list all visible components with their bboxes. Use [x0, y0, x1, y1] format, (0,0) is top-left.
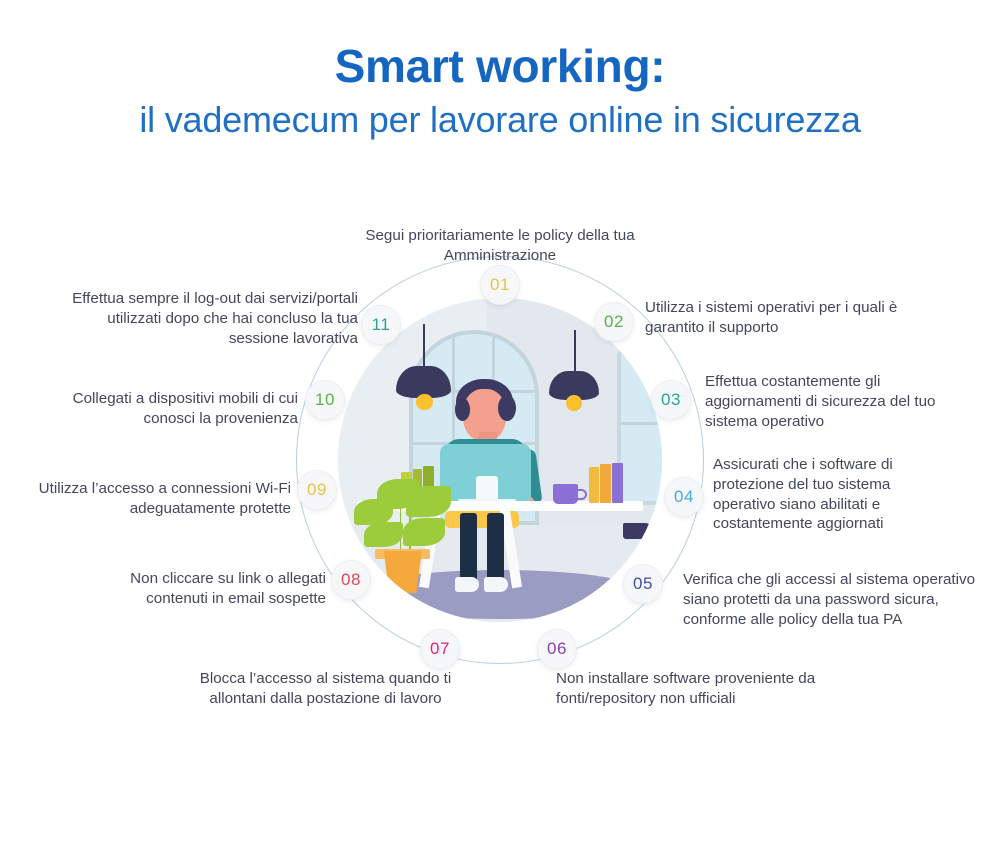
step-label-06: Non installare software proveniente da f…	[556, 669, 856, 709]
step-number-07: 07	[430, 639, 450, 659]
page-title: Smart working:	[0, 42, 1000, 91]
step-badge-07[interactable]: 07	[421, 630, 459, 668]
lamp-cord-left	[423, 324, 425, 369]
step-label-09: Utilizza l’accesso a connessioni Wi-Fi a…	[28, 479, 291, 519]
step-badge-08[interactable]: 08	[332, 561, 370, 599]
infographic-page: Smart working: il vademecum per lavorare…	[0, 0, 1000, 844]
step-label-08: Non cliccare su link o allegati contenut…	[68, 569, 326, 609]
step-number-04: 04	[674, 487, 694, 507]
step-label-05: Verifica che gli accessi al sistema oper…	[683, 570, 983, 629]
step-label-04: Assicurati che i software di protezione …	[713, 455, 938, 534]
step-number-08: 08	[341, 570, 361, 590]
title-block: Smart working: il vademecum per lavorare…	[0, 42, 1000, 142]
person-leg-left	[460, 513, 477, 581]
lamp-bulb-left-icon	[416, 394, 433, 411]
plant-leaf-3	[406, 486, 451, 517]
step-badge-06[interactable]: 06	[538, 630, 576, 668]
step-badge-11[interactable]: 11	[362, 306, 400, 344]
plant-leaf-5	[403, 518, 445, 546]
coffee-mug-icon	[553, 484, 577, 504]
step-label-02: Utilizza i sistemi operativi per i quali…	[645, 298, 945, 338]
step-label-03: Effettua costantemente gli aggiornamenti…	[705, 372, 945, 431]
book-5	[600, 464, 610, 503]
side-window-icon	[617, 350, 662, 506]
waste-bin-icon	[623, 523, 652, 539]
book-6	[612, 463, 623, 504]
step-badge-05[interactable]: 05	[624, 565, 662, 603]
step-badge-09[interactable]: 09	[298, 471, 336, 509]
person-shoe-left	[455, 577, 479, 592]
lamp-cord-right	[574, 330, 576, 372]
step-badge-03[interactable]: 03	[652, 381, 690, 419]
step-badge-10[interactable]: 10	[306, 381, 344, 419]
person-leg-right	[487, 513, 504, 581]
step-number-02: 02	[604, 312, 624, 332]
step-badge-02[interactable]: 02	[595, 303, 633, 341]
person-shoe-right	[484, 577, 508, 592]
step-label-11: Effettua sempre il log-out dai servizi/p…	[50, 289, 358, 348]
step-badge-04[interactable]: 04	[665, 478, 703, 516]
remote-worker-illustration	[338, 298, 662, 622]
page-subtitle: il vademecum per lavorare online in sicu…	[0, 97, 1000, 142]
step-number-10: 10	[315, 390, 335, 410]
step-label-10: Collegati a dispositivi mobili di cui co…	[18, 389, 298, 429]
step-number-06: 06	[547, 639, 567, 659]
step-number-01: 01	[490, 275, 510, 295]
step-number-03: 03	[661, 390, 681, 410]
step-label-07: Blocca l’accesso al sistema quando ti al…	[178, 669, 473, 709]
step-badge-01[interactable]: 01	[481, 266, 519, 304]
step-label-01: Segui prioritariamente le policy della t…	[330, 226, 670, 266]
step-number-09: 09	[307, 480, 327, 500]
illustration-circle	[338, 298, 662, 622]
step-number-05: 05	[633, 574, 653, 594]
person-hair-side-left	[455, 398, 470, 421]
lamp-bulb-right-icon	[566, 395, 582, 411]
step-number-11: 11	[372, 315, 391, 335]
book-4	[589, 467, 599, 503]
